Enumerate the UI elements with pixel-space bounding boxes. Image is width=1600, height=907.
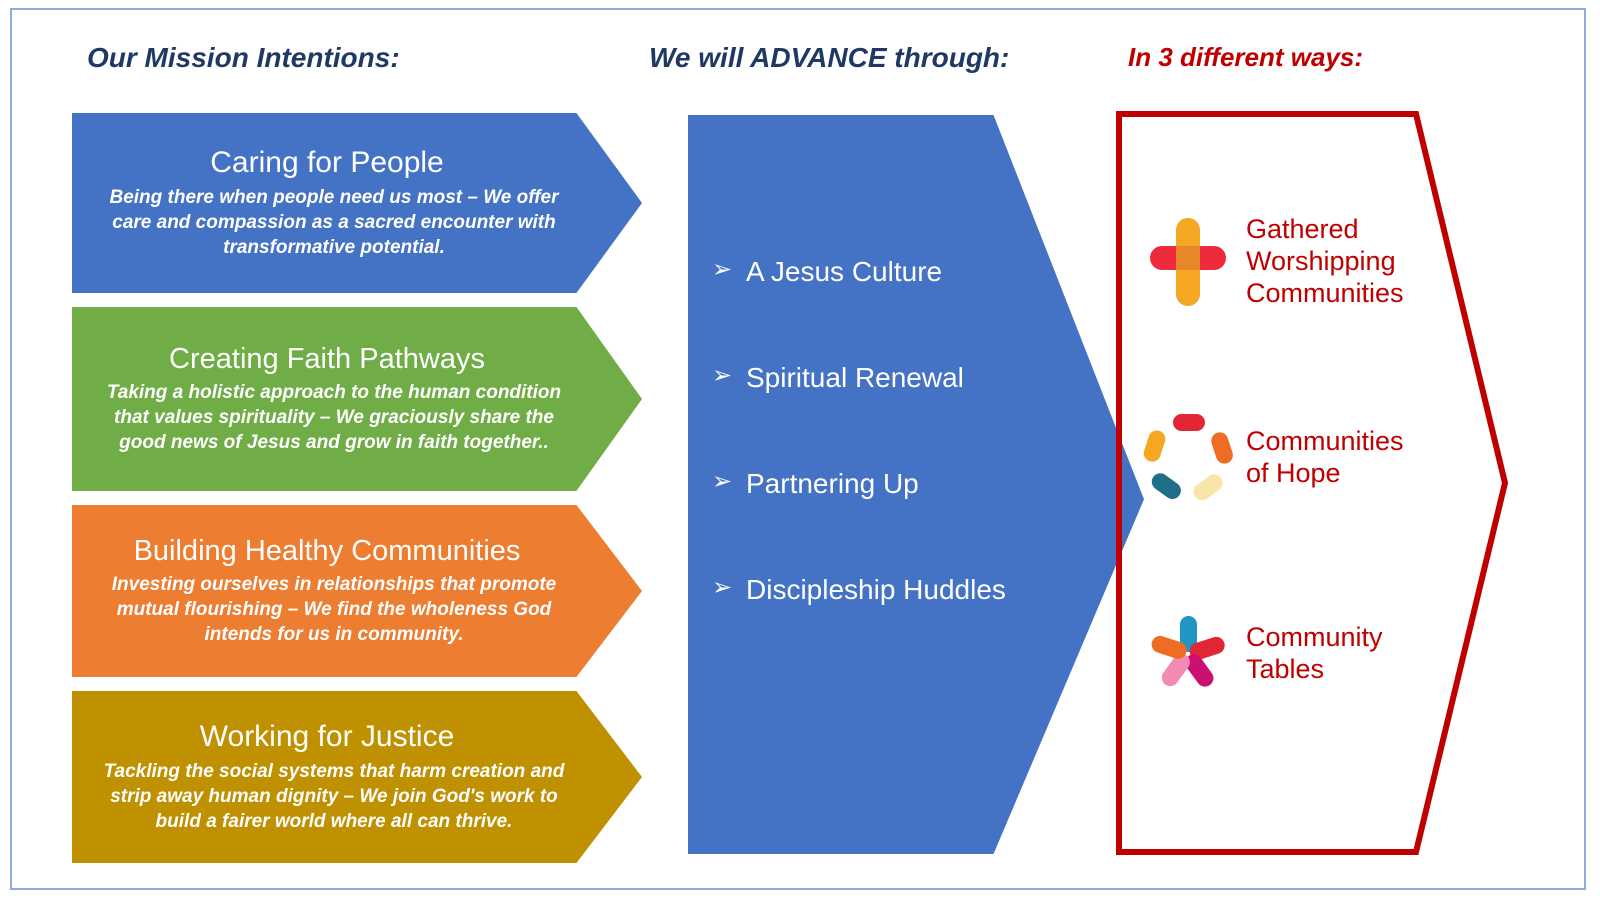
- way-label-line1: Gathered: [1246, 214, 1470, 246]
- arrow-bullet-icon: ➢: [712, 576, 746, 600]
- mission-intentions-list: Caring for People Being there when peopl…: [72, 113, 642, 877]
- column-header-three-ways: In 3 different ways:: [1128, 42, 1363, 73]
- three-ways-list: Gathered Worshipping Communities: [1140, 210, 1470, 798]
- column-header-mission-intentions: Our Mission Intentions:: [87, 42, 400, 74]
- way-label-line2: Worshipping: [1246, 246, 1470, 278]
- advance-item-label: Partnering Up: [746, 467, 1042, 501]
- five-petal-pinwheel-icon: [1140, 602, 1236, 706]
- mission-arrow-description: Investing ourselves in relationships tha…: [72, 572, 642, 647]
- mission-arrow-title: Caring for People: [72, 146, 642, 181]
- way-label-line2: Tables: [1246, 654, 1470, 686]
- mission-arrow-caring-for-people[interactable]: Caring for People Being there when peopl…: [72, 113, 642, 293]
- mission-arrow-title: Creating Faith Pathways: [72, 343, 642, 376]
- way-communities-of-hope[interactable]: Communities of Hope: [1140, 406, 1470, 510]
- mission-arrow-working-for-justice[interactable]: Working for Justice Tackling the social …: [72, 691, 642, 863]
- way-label: Gathered Worshipping Communities: [1246, 214, 1470, 310]
- way-gathered-worshipping-communities[interactable]: Gathered Worshipping Communities: [1140, 210, 1470, 314]
- mission-arrow-description: Being there when people need us most – W…: [72, 185, 642, 260]
- way-label-line3: Communities: [1246, 278, 1470, 310]
- way-label: Communities of Hope: [1246, 426, 1470, 490]
- column-header-advance: We will ADVANCE through:: [649, 42, 1009, 74]
- advance-item-label: Spiritual Renewal: [746, 361, 1042, 395]
- arrow-bullet-icon: ➢: [712, 258, 746, 282]
- mission-arrow-creating-faith-pathways[interactable]: Creating Faith Pathways Taking a holisti…: [72, 307, 642, 491]
- mission-arrow-title: Building Healthy Communities: [72, 535, 642, 568]
- advance-item-a-jesus-culture[interactable]: ➢ A Jesus Culture: [712, 255, 1042, 289]
- diagram-frame: Our Mission Intentions: We will ADVANCE …: [10, 8, 1586, 890]
- way-label: Community Tables: [1246, 622, 1470, 686]
- mission-arrow-title: Working for Justice: [72, 720, 642, 755]
- mission-arrow-building-healthy-communities[interactable]: Building Healthy Communities Investing o…: [72, 505, 642, 677]
- way-community-tables[interactable]: Community Tables: [1140, 602, 1470, 706]
- advance-item-spiritual-renewal[interactable]: ➢ Spiritual Renewal: [712, 361, 1042, 395]
- advance-items-list: ➢ A Jesus Culture ➢ Spiritual Renewal ➢ …: [712, 255, 1042, 680]
- ring-of-capsules-icon: [1140, 406, 1236, 510]
- advance-item-partnering-up[interactable]: ➢ Partnering Up: [712, 467, 1042, 501]
- way-label-line1: Communities: [1246, 426, 1470, 458]
- mission-arrow-description: Tackling the social systems that harm cr…: [72, 759, 642, 834]
- mission-arrow-description: Taking a holistic approach to the human …: [72, 380, 642, 455]
- arrow-bullet-icon: ➢: [712, 470, 746, 494]
- advance-item-label: Discipleship Huddles: [746, 573, 1042, 607]
- way-label-line1: Community: [1246, 622, 1470, 654]
- advance-item-label: A Jesus Culture: [746, 255, 1042, 289]
- cross-icon: [1140, 210, 1236, 314]
- way-label-line2: of Hope: [1246, 458, 1470, 490]
- arrow-bullet-icon: ➢: [712, 364, 746, 388]
- advance-item-discipleship-huddles[interactable]: ➢ Discipleship Huddles: [712, 573, 1042, 607]
